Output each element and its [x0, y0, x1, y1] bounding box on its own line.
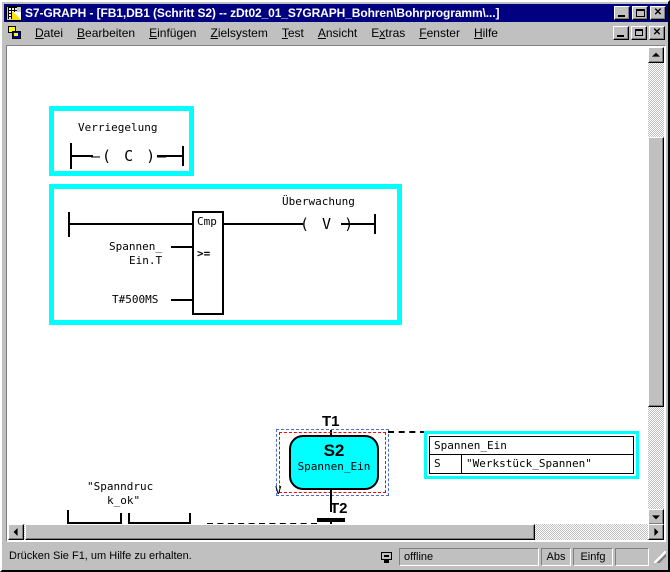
status-bar: Drücken Sie F1, um Hilfe zu erhalten. of… [4, 546, 668, 568]
menu-item-fenster[interactable]: Fenster [412, 24, 467, 42]
transition-t1-label[interactable]: T1 [322, 413, 340, 430]
status-extra [615, 548, 649, 566]
menu-item-zielsystem[interactable]: Zielsystem [203, 24, 274, 42]
network-ueberwachung[interactable]: Überwachung Cmp >= Spannen_ Ein.T [49, 184, 402, 325]
s7graph-icon [6, 6, 22, 21]
action-header-row: Spannen_Ein [430, 437, 633, 455]
contact-label-line2: k_ok" [107, 494, 140, 507]
rung-end-bar-2 [374, 214, 376, 234]
network-verriegelung[interactable]: Verriegelung —( C )— [49, 106, 194, 176]
status-insert[interactable]: Einfg [573, 548, 613, 566]
connection-indicator [375, 548, 397, 566]
maximize-button[interactable] [632, 6, 648, 20]
action-operand: "Werkstück_Spannen" [462, 455, 633, 470]
mdi-document-icon[interactable] [8, 26, 24, 40]
status-abs[interactable]: Abs [541, 548, 571, 566]
menu-item-ansicht[interactable]: Ansicht [311, 24, 364, 42]
scroll-right-button[interactable] [648, 524, 664, 540]
step-number: S2 [291, 441, 377, 460]
contact-label-line1: "Spanndruc [87, 480, 153, 493]
menu-item-einfuegen[interactable]: Einfügen [142, 24, 203, 42]
menu-items: Datei Bearbeiten Einfügen Zielsystem Tes… [28, 24, 613, 42]
rung-line-left [70, 155, 93, 157]
compare-box-name: Cmp [197, 215, 217, 228]
transition-t2-label[interactable]: T2 [330, 500, 348, 517]
client-area: Verriegelung —( C )— Überwachung [6, 45, 666, 544]
application-window: S7-GRAPH - [FB1,DB1 (Schritt S2) -- zDt0… [0, 0, 670, 572]
operand2-connector [171, 299, 194, 301]
document-frame: Verriegelung —( C )— Überwachung [6, 45, 666, 542]
mdi-minimize-button[interactable] [613, 26, 629, 40]
operand2: T#500MS [112, 293, 158, 306]
rung-end-bar [182, 146, 184, 166]
mdi-close-button[interactable]: ✕ [649, 26, 665, 40]
window-controls: ✕ [614, 6, 666, 20]
compare-operator: >= [197, 247, 210, 260]
menu-item-extras[interactable]: Extras [364, 24, 412, 42]
menu-item-hilfe[interactable]: Hilfe [467, 24, 505, 42]
horizontal-scrollbar[interactable] [8, 524, 664, 540]
plc-connection-icon [381, 552, 392, 563]
graph-canvas[interactable]: Verriegelung —( C )— Überwachung [8, 47, 648, 525]
menu-bar: Datei Bearbeiten Einfügen Zielsystem Tes… [4, 23, 668, 43]
action-table: Spannen_Ein S "Werkstück_Spannen" [429, 436, 634, 474]
mdi-window-controls: ✕ [613, 26, 665, 40]
horizontal-scroll-thumb[interactable] [25, 524, 535, 540]
resize-grip[interactable] [653, 550, 667, 564]
vertical-scroll-thumb[interactable] [648, 137, 664, 407]
minimize-button[interactable] [614, 6, 630, 20]
status-message: Drücken Sie F1, um Hilfe zu erhalten. [5, 548, 373, 566]
action-body-row: S "Werkstück_Spannen" [430, 455, 633, 473]
compare-box[interactable]: Cmp >= [192, 211, 224, 315]
operand1-line2: Ein.T [129, 254, 162, 267]
action-qualifier: S [430, 455, 461, 470]
menu-item-datei[interactable]: Datei [28, 24, 70, 42]
step-action-link [388, 431, 426, 433]
window-title: S7-GRAPH - [FB1,DB1 (Schritt S2) -- zDt0… [25, 6, 614, 20]
action-box[interactable]: Spannen_Ein S "Werkstück_Spannen" [424, 431, 639, 479]
vertical-scrollbar[interactable] [648, 47, 664, 525]
rung-line-right-2 [341, 223, 376, 225]
scroll-left-button[interactable] [8, 524, 24, 540]
operand1-line1: Spannen_ [109, 240, 162, 253]
action-header-name: Spannen_Ein [430, 437, 633, 452]
scroll-down-button[interactable] [648, 509, 664, 525]
rung-line-from-cmp [222, 223, 303, 225]
rung-line-right [157, 155, 184, 157]
menu-item-bearbeiten[interactable]: Bearbeiten [70, 24, 142, 42]
title-bar: S7-GRAPH - [FB1,DB1 (Schritt S2) -- zDt0… [4, 4, 668, 22]
scroll-up-button[interactable] [648, 47, 664, 63]
rung-line-to-cmp [68, 223, 194, 225]
menu-item-test[interactable]: Test [275, 24, 311, 42]
ueberwachung-label: Überwachung [282, 195, 355, 208]
supervision-marker-v: V [275, 484, 282, 497]
close-button[interactable]: ✕ [650, 6, 666, 20]
step-name: Spannen_Ein [291, 460, 377, 473]
action-qualifier-cell[interactable]: S [430, 455, 462, 473]
verriegelung-label: Verriegelung [78, 121, 157, 134]
status-mode[interactable]: offline [399, 548, 539, 566]
mdi-restore-button[interactable] [631, 26, 647, 40]
menu-label-datei: atei [44, 26, 63, 40]
step-s2[interactable]: S2 Spannen_Ein [289, 435, 379, 490]
operand1-connector [171, 246, 194, 248]
